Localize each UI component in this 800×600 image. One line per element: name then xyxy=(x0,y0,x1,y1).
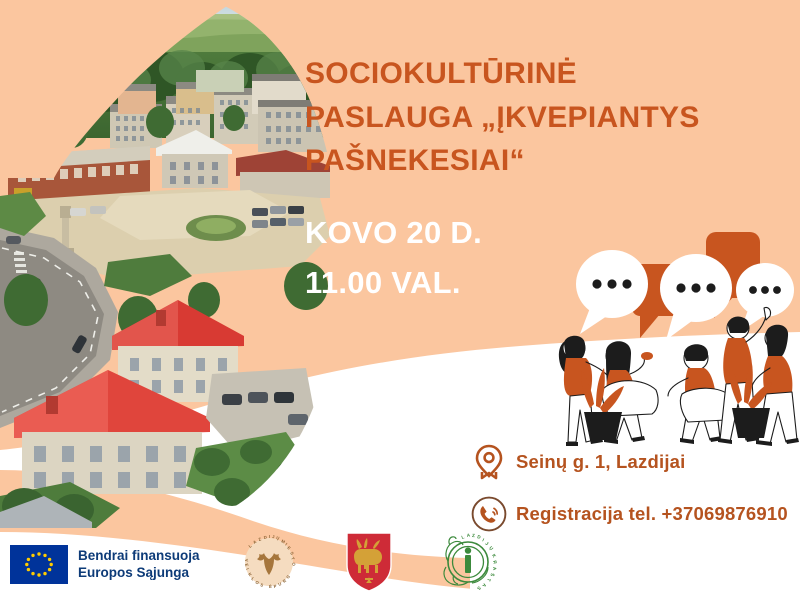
svg-text:S: S xyxy=(476,585,482,591)
svg-text:K: K xyxy=(491,553,497,559)
svg-text:J: J xyxy=(271,534,275,539)
svg-text:O: O xyxy=(291,561,297,566)
eu-funding-block: Bendrai finansuoja Europos Sąjunga xyxy=(10,545,200,584)
eu-funding-text: Bendrai finansuoja Europos Sąjunga xyxy=(78,547,200,582)
svg-text:R: R xyxy=(281,577,286,583)
contact-row-address: Seinų g. 1, Lazdijai xyxy=(466,436,800,488)
svg-text:I: I xyxy=(269,534,270,539)
svg-text:D: D xyxy=(476,534,481,540)
svg-text:Z: Z xyxy=(471,533,474,538)
people-conversation-illustration xyxy=(548,228,800,460)
speech-bubble-white-2 xyxy=(660,254,732,340)
lazdijai-miesto-vvg-logo: L A Z D I J Ų M I E S T O G R U P xyxy=(238,531,300,598)
svg-text:I: I xyxy=(481,537,484,542)
lazdijai-krastas-logo: L A Z D I J Ų K R A Š T A S xyxy=(436,531,500,598)
svg-text:J: J xyxy=(484,540,489,546)
eu-flag-icon xyxy=(10,545,68,584)
svg-text:L: L xyxy=(460,534,464,540)
speech-bubble-white-1 xyxy=(576,250,648,334)
poster-headline: SOCIOKULTŪRINĖ PASLAUGA „ĮKVEPIANTYS PAŠ… xyxy=(305,52,785,183)
svg-text:A: A xyxy=(466,532,471,538)
peach-corner-swoosh xyxy=(0,0,240,180)
svg-text:T: T xyxy=(486,577,492,582)
headline-line-1: SOCIOKULTŪRINĖ xyxy=(305,52,785,96)
headline-line-2: PASLAUGA „ĮKVEPIANTYS xyxy=(305,96,785,140)
headline-line-3: PAŠNEKESIAI“ xyxy=(305,139,785,183)
eu-funding-line-1: Bendrai finansuoja xyxy=(78,547,200,564)
footer-logo-bar: Bendrai finansuoja Europos Sąjunga L A Z… xyxy=(0,528,800,600)
map-pin-icon xyxy=(466,443,512,481)
lazdijai-coat-of-arms-logo xyxy=(344,531,394,598)
svg-text:Ė: Ė xyxy=(269,584,272,589)
svg-text:R: R xyxy=(492,559,498,564)
svg-text:Z: Z xyxy=(257,536,261,542)
contact-info-block: Seinų g. 1, Lazdijai Registracija tel. +… xyxy=(466,436,800,540)
svg-text:Ų: Ų xyxy=(275,535,279,541)
phone-text: Registracija tel. +37069876910 xyxy=(516,503,788,525)
eu-funding-line-2: Europos Sąjunga xyxy=(78,564,200,581)
svg-text:D: D xyxy=(263,534,267,539)
address-text: Seinų g. 1, Lazdijai xyxy=(516,451,686,473)
poster-canvas: SOCIOKULTŪRINĖ PASLAUGA „ĮKVEPIANTYS PAŠ… xyxy=(0,0,800,600)
svg-text:Š: Š xyxy=(489,572,496,576)
svg-text:Ų: Ų xyxy=(488,545,494,551)
svg-text:A: A xyxy=(492,566,497,570)
